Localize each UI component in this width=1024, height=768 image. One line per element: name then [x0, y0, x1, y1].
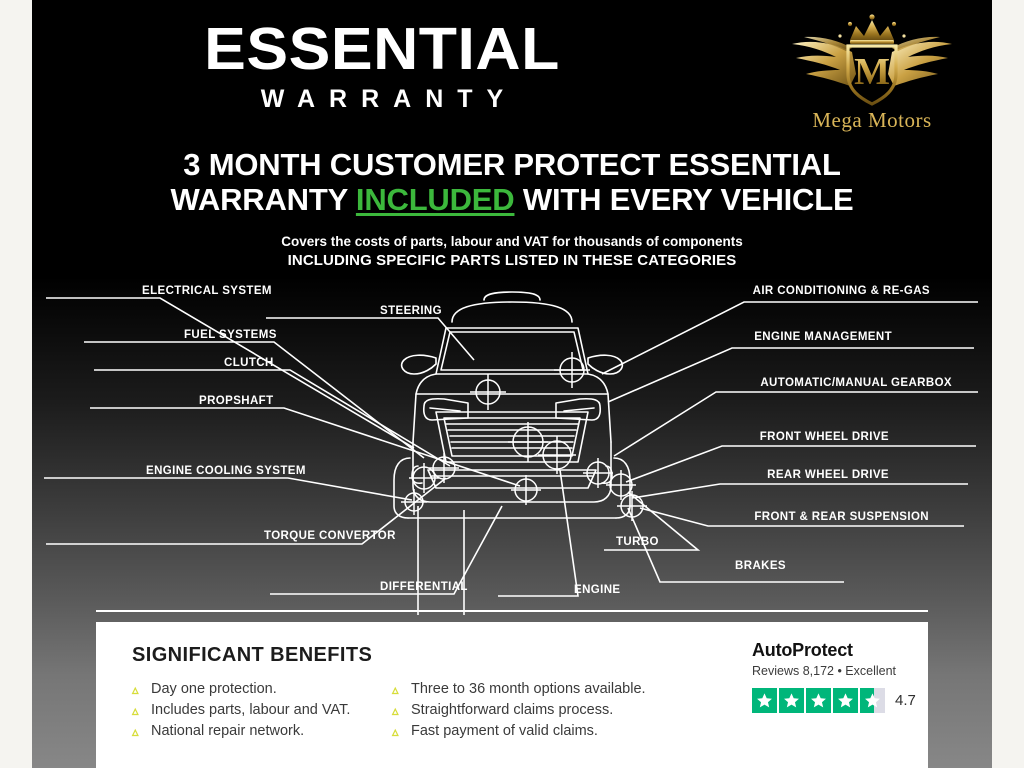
benefit-item: ▵ Three to 36 month options available. [390, 679, 670, 700]
diagram-label-steering: STEERING [380, 305, 442, 317]
chevron-up-icon: ▵ [392, 705, 403, 716]
star-icon-filled [752, 688, 777, 713]
trustpilot-score: 4.7 [895, 692, 916, 709]
diagram-label-rear-wheel-drive: REAR WHEEL DRIVE [767, 469, 889, 481]
target-marker [470, 374, 506, 410]
diagram-label-gearbox: AUTOMATIC/MANUAL GEARBOX [760, 377, 952, 389]
diagram-label-fuel-systems: FUEL SYSTEMS [184, 329, 277, 341]
subheadline: Covers the costs of parts, labour and VA… [32, 232, 992, 271]
diagram-label-propshaft: PROPSHAFT [199, 395, 274, 407]
headline-line-2-after: WITH EVERY VEHICLE [514, 182, 853, 217]
benefit-text: National repair network. [151, 723, 304, 739]
wings-crown-shield-icon: M [772, 12, 972, 112]
trustpilot-stars: 4.7 [752, 688, 928, 713]
benefit-text: Includes parts, labour and VAT. [151, 702, 350, 718]
significant-benefits-card: SIGNIFICANT BENEFITS ▵ Day one protectio… [96, 622, 928, 768]
benefit-item: ▵ National repair network. [130, 721, 400, 742]
headline: 3 MONTH CUSTOMER PROTECT ESSENTIAL WARRA… [32, 148, 992, 216]
diagram-label-electrical-system: ELECTRICAL SYSTEM [142, 285, 272, 297]
target-marker [511, 475, 541, 505]
diagram-label-brakes: BRAKES [735, 560, 786, 572]
poster-title-block: ESSENTIAL WARRANTY [32, 18, 732, 116]
benefit-item: ▵ Day one protection. [130, 679, 400, 700]
poster-dark-area: ESSENTIAL WARRANTY [32, 0, 992, 768]
chevron-up-icon: ▵ [392, 726, 403, 737]
diagram-label-front-wheel-drive: FRONT WHEEL DRIVE [760, 431, 889, 443]
subheadline-line-2: INCLUDING SPECIFIC PARTS LISTED IN THESE… [32, 251, 992, 271]
chevron-up-icon: ▵ [132, 684, 143, 695]
logo-wordmark: Mega Motors [772, 108, 972, 133]
trustpilot-reviews-summary: Reviews 8,172 • Excellent [752, 664, 928, 678]
diagram-label-clutch: CLUTCH [224, 357, 274, 369]
diagram-label-air-conditioning: AIR CONDITIONING & RE-GAS [753, 285, 930, 297]
benefit-item: ▵ Straightforward claims process. [390, 700, 670, 721]
autoprotect-brand: AutoProtect [752, 640, 928, 661]
benefit-item: ▵ Includes parts, labour and VAT. [130, 700, 400, 721]
warranty-poster: ESSENTIAL WARRANTY [0, 0, 1024, 768]
chevron-up-icon: ▵ [132, 726, 143, 737]
benefit-item: ▵ Fast payment of valid claims. [390, 721, 670, 742]
benefits-column-2: ▵ Three to 36 month options available. ▵… [390, 679, 670, 742]
headline-line-2-before: WARRANTY [171, 182, 356, 217]
headline-highlight: INCLUDED [356, 182, 515, 217]
page-title: ESSENTIAL [32, 18, 753, 80]
diagram-label-differential: DIFFERENTIAL [380, 581, 468, 593]
diagram-label-turbo: TURBO [616, 536, 659, 548]
page-subtitle: WARRANTY [32, 82, 732, 116]
star-icon-half [860, 688, 885, 713]
star-icon-filled [806, 688, 831, 713]
trustpilot-rating-block: AutoProtect Reviews 8,172 • Excellent [752, 640, 928, 713]
headline-line-1: 3 MONTH CUSTOMER PROTECT ESSENTIAL [183, 147, 840, 182]
target-marker [583, 458, 613, 488]
benefit-text: Straightforward claims process. [411, 702, 613, 718]
chevron-up-icon: ▵ [392, 684, 403, 695]
benefit-text: Day one protection. [151, 681, 277, 697]
covered-parts-diagram: ELECTRICAL SYSTEM FUEL SYSTEMS CLUTCH PR… [32, 270, 992, 615]
section-divider [96, 610, 928, 612]
star-icon-filled [779, 688, 804, 713]
diagram-label-suspension: FRONT & REAR SUSPENSION [754, 511, 929, 523]
benefit-text: Three to 36 month options available. [411, 681, 646, 697]
chevron-up-icon: ▵ [132, 705, 143, 716]
diagram-label-engine-cooling-system: ENGINE COOLING SYSTEM [146, 465, 306, 477]
benefits-heading: SIGNIFICANT BENEFITS [132, 644, 372, 667]
diagram-label-engine-management: ENGINE MANAGEMENT [754, 331, 892, 343]
benefit-text: Fast payment of valid claims. [411, 723, 598, 739]
subheadline-line-1: Covers the costs of parts, labour and VA… [32, 232, 992, 251]
benefits-column-1: ▵ Day one protection. ▵ Includes parts, … [130, 679, 400, 742]
diagram-label-engine: ENGINE [574, 584, 621, 596]
headline-line-2: WARRANTY INCLUDED WITH EVERY VEHICLE [32, 183, 992, 216]
diagram-label-torque-convertor: TORQUE CONVERTOR [264, 530, 396, 542]
star-icon-filled [833, 688, 858, 713]
mega-motors-logo: M Mega Motors [772, 12, 972, 134]
svg-text:M: M [854, 51, 890, 93]
